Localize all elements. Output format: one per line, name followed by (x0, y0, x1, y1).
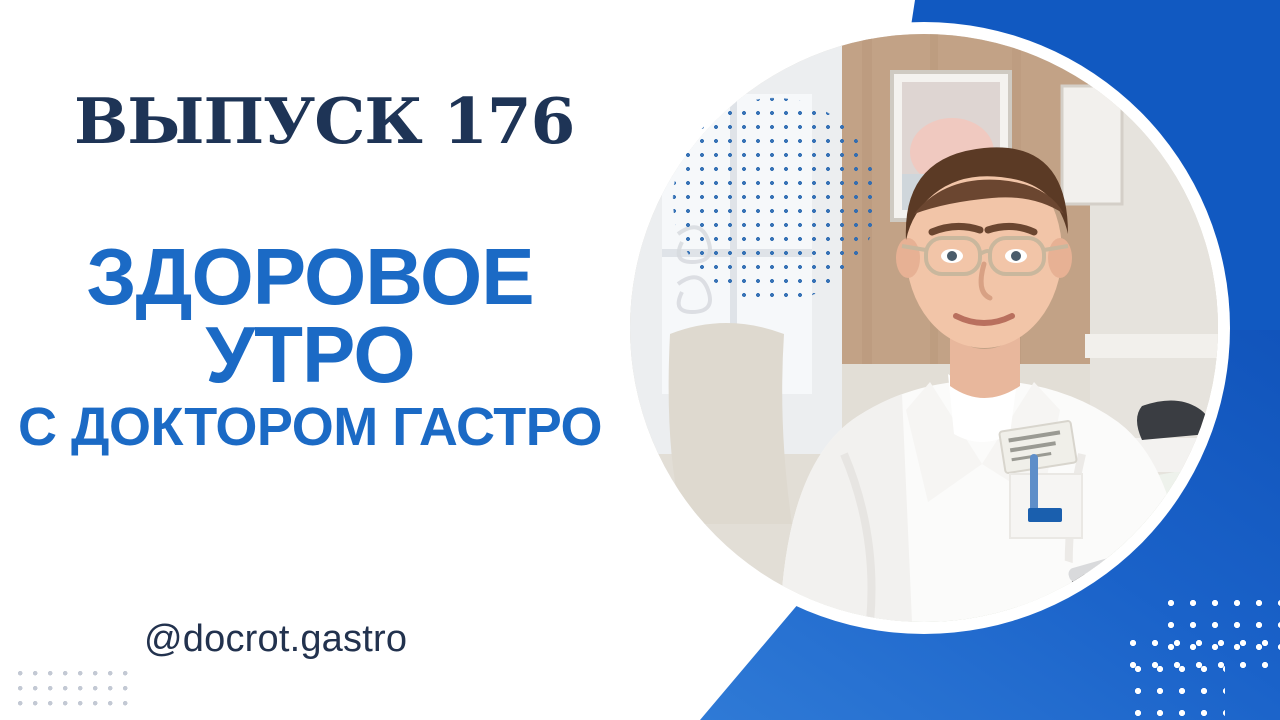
page-title: ЗДОРОВОЕ УТРО С ДОКТОРОМ ГАСТРО (0, 238, 620, 454)
headline-line-1: ЗДОРОВОЕ (0, 238, 620, 316)
dot-grid-row-group-3 (1135, 666, 1225, 716)
dot-grid-blue-circular (630, 55, 920, 345)
headline-line-2: УТРО (0, 316, 620, 394)
episode-cover-canvas: ВЫПУСК 176 ЗДОРОВОЕ УТРО С ДОКТОРОМ ГАСТ… (0, 0, 1280, 720)
social-handle[interactable]: @docrot.gastro (144, 618, 407, 661)
dot-grid-bottom-right (1130, 600, 1280, 720)
issue-number-title: ВЫПУСК 176 (74, 84, 574, 158)
headline-line-3: С ДОКТОРОМ ГАСТРО (0, 401, 620, 454)
dot-grid-bottom-left (18, 671, 130, 709)
